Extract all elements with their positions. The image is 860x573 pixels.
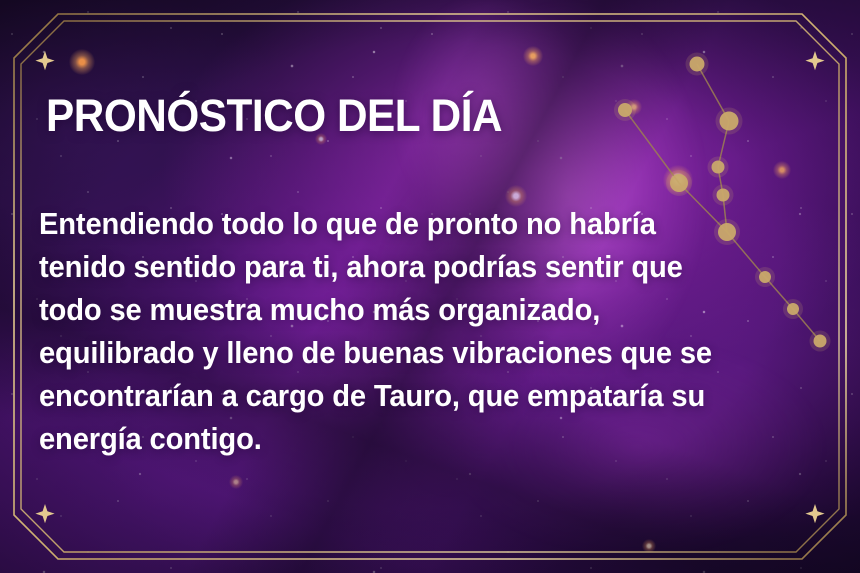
card-content: PRONÓSTICO DEL DÍA Entendiendo todo lo q… [0, 0, 860, 573]
body-line: tenido sentido para ti, ahora podrías se… [39, 246, 746, 289]
horoscope-body-text: Entendiendo todo lo que de pronto no hab… [39, 203, 746, 461]
body-line: todo se muestra mucho más organizado, [39, 289, 746, 332]
body-line: equilibrado y lleno de buenas vibracione… [39, 332, 746, 375]
page-title: PRONÓSTICO DEL DÍA [46, 93, 502, 138]
horoscope-card: PRONÓSTICO DEL DÍA Entendiendo todo lo q… [0, 0, 860, 573]
body-line: encontrarían a cargo de Tauro, que empat… [39, 375, 746, 418]
body-line: energía contigo. [39, 418, 746, 461]
body-line: Entendiendo todo lo que de pronto no hab… [39, 203, 746, 246]
